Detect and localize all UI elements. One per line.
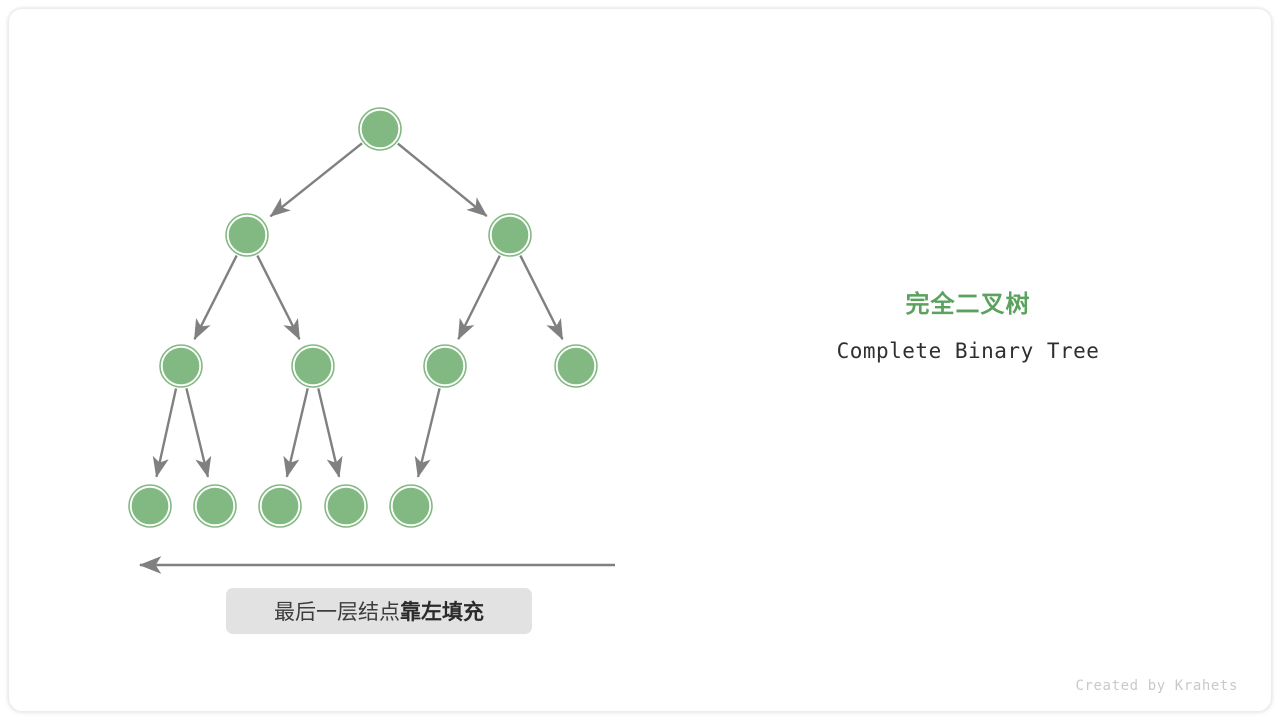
- tree-node-circle: [393, 488, 429, 524]
- tree-edge: [194, 256, 236, 340]
- tree-node: [292, 345, 334, 387]
- annotation-text-normal: 最后一层结点: [274, 601, 400, 624]
- tree-edge: [458, 256, 499, 340]
- tree-nodes: [129, 108, 597, 527]
- tree-edge: [186, 388, 207, 476]
- annotation-pill-text: 最后一层结点靠左填充: [274, 596, 484, 626]
- tree-node-circle: [295, 348, 331, 384]
- tree-node-circle: [427, 348, 463, 384]
- tree-node: [194, 485, 236, 527]
- tree-edge: [257, 256, 299, 340]
- tree-node-circle: [229, 217, 265, 253]
- tree-node: [325, 485, 367, 527]
- tree-edge: [156, 388, 176, 476]
- tree-edge: [418, 388, 439, 476]
- tree-node-circle: [558, 348, 594, 384]
- annotation-pill: 最后一层结点靠左填充: [226, 588, 532, 634]
- annotation-text-bold: 靠左填充: [400, 601, 484, 624]
- tree-edge: [520, 256, 562, 340]
- tree-node-circle: [132, 488, 168, 524]
- tree-node: [129, 485, 171, 527]
- tree-node: [424, 345, 466, 387]
- tree-edge: [270, 143, 362, 216]
- tree-edges: [156, 143, 562, 477]
- tree-node-circle: [197, 488, 233, 524]
- tree-node-circle: [362, 111, 398, 147]
- tree-edge: [398, 144, 487, 217]
- legend-title: 完全二叉树: [768, 290, 1168, 320]
- tree-node: [259, 485, 301, 527]
- tree-node-circle: [328, 488, 364, 524]
- tree-node-circle: [492, 217, 528, 253]
- tree-node-circle: [163, 348, 199, 384]
- watermark: Created by Krahets: [1075, 678, 1238, 694]
- tree-node: [160, 345, 202, 387]
- tree-node: [359, 108, 401, 150]
- tree-node: [555, 345, 597, 387]
- tree-edge: [318, 388, 339, 476]
- tree-node-circle: [262, 488, 298, 524]
- legend-subtitle: Complete Binary Tree: [768, 338, 1168, 364]
- tree-node: [390, 485, 432, 527]
- figure-canvas: 最后一层结点靠左填充 完全二叉树 Complete Binary Tree Cr…: [0, 0, 1280, 720]
- tree-edge: [287, 388, 308, 476]
- tree-node: [226, 214, 268, 256]
- tree-node: [489, 214, 531, 256]
- legend-block: 完全二叉树 Complete Binary Tree: [768, 290, 1168, 364]
